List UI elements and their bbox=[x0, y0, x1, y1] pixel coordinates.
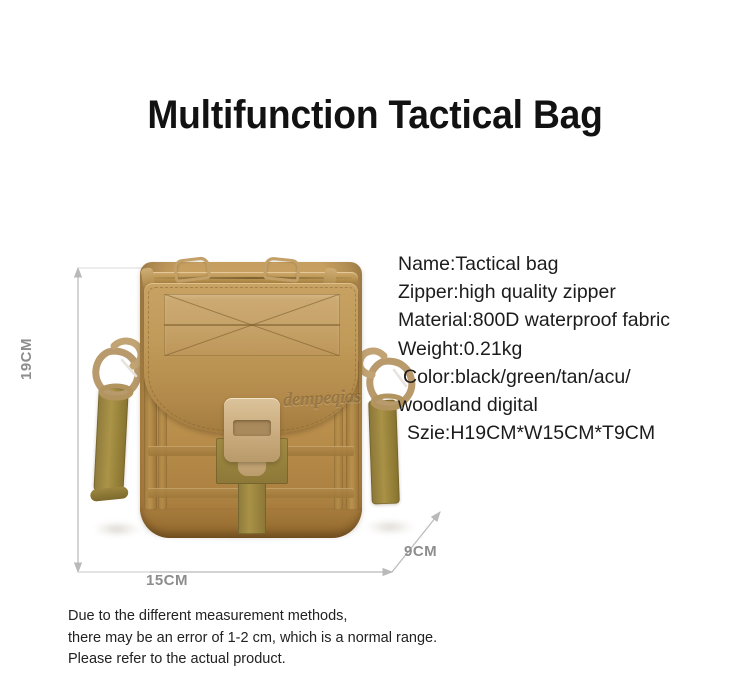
spec-color-cont: woodland digital bbox=[398, 391, 750, 419]
product-photo: dempeqias bbox=[78, 250, 418, 580]
spec-zipper: Zipper:high quality zipper bbox=[398, 278, 750, 306]
disclaimer-line-3: Please refer to the actual product. bbox=[68, 649, 628, 671]
disclaimer-line-2: there may be an error of 1-2 cm, which i… bbox=[68, 628, 628, 650]
measurement-disclaimer: Due to the different measurement methods… bbox=[68, 606, 628, 671]
product-detail-image: Multifunction Tactical Bag 19CM 15CM 9CM bbox=[0, 0, 750, 689]
spec-size: Szie:H19CM*W15CM*T9CM bbox=[398, 419, 750, 447]
spec-color: Color:black/green/tan/acu/ bbox=[398, 363, 750, 391]
zipper-pull-left bbox=[173, 256, 212, 283]
spec-material: Material:800D waterproof fabric bbox=[398, 306, 750, 334]
specification-list: Name:Tactical bag Zipper:high quality zi… bbox=[398, 250, 750, 447]
side-release-buckle bbox=[224, 398, 280, 462]
dimension-label-height: 19CM bbox=[18, 338, 35, 380]
spec-weight: Weight:0.21kg bbox=[398, 335, 750, 363]
velcro-center-line bbox=[164, 324, 340, 326]
brand-watermark: dempeqias bbox=[282, 386, 361, 412]
spec-name: Name:Tactical bag bbox=[398, 250, 750, 278]
disclaimer-line-1: Due to the different measurement methods… bbox=[68, 606, 628, 628]
zipper-pull-right bbox=[263, 256, 301, 283]
